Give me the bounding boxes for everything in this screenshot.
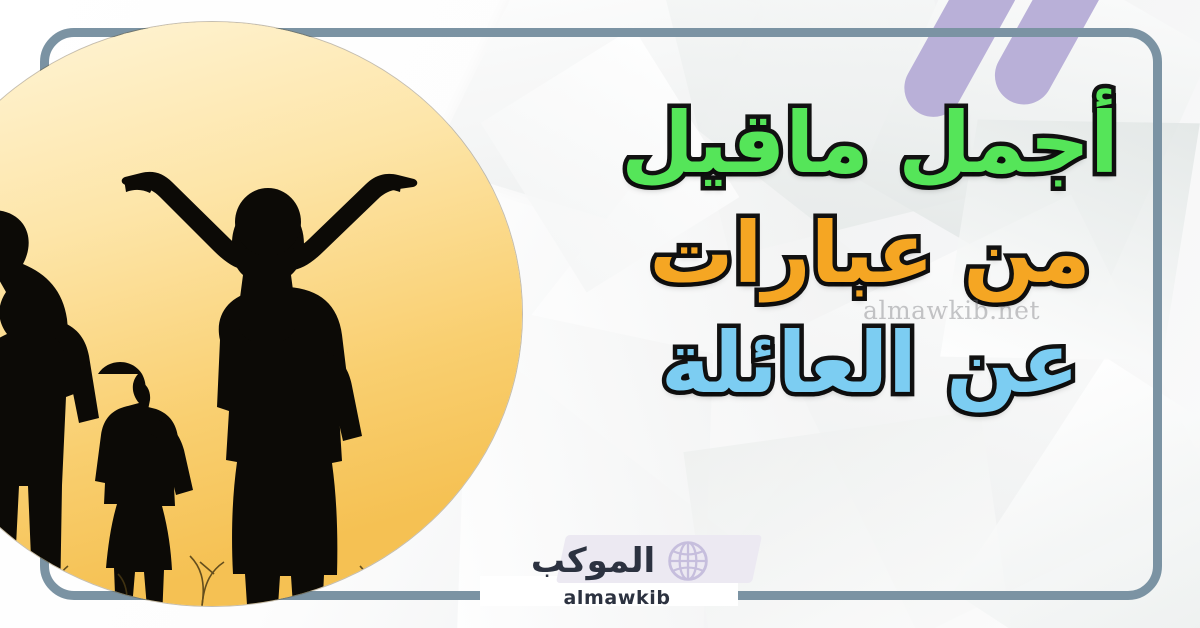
globe-icon xyxy=(667,540,709,582)
headline-line-2: من عبارات xyxy=(590,206,1150,300)
logo-row: الموكب xyxy=(525,540,709,582)
site-logo[interactable]: الموكب almawkib xyxy=(492,540,742,609)
logo-latin-name: almawkib xyxy=(563,587,670,609)
headline-block: أجمل ماقيل من عبارات عن العائلة xyxy=(590,96,1150,410)
headline-line-1: أجمل ماقيل xyxy=(590,96,1150,190)
family-photo-circle xyxy=(0,22,522,606)
headline-line-3: عن العائلة xyxy=(590,316,1150,410)
banner-root: أجمل ماقيل من عبارات عن العائلة almawkib… xyxy=(0,0,1200,628)
family-silhouette-illustration xyxy=(0,22,522,606)
logo-arabic-name: الموكب xyxy=(525,541,655,581)
